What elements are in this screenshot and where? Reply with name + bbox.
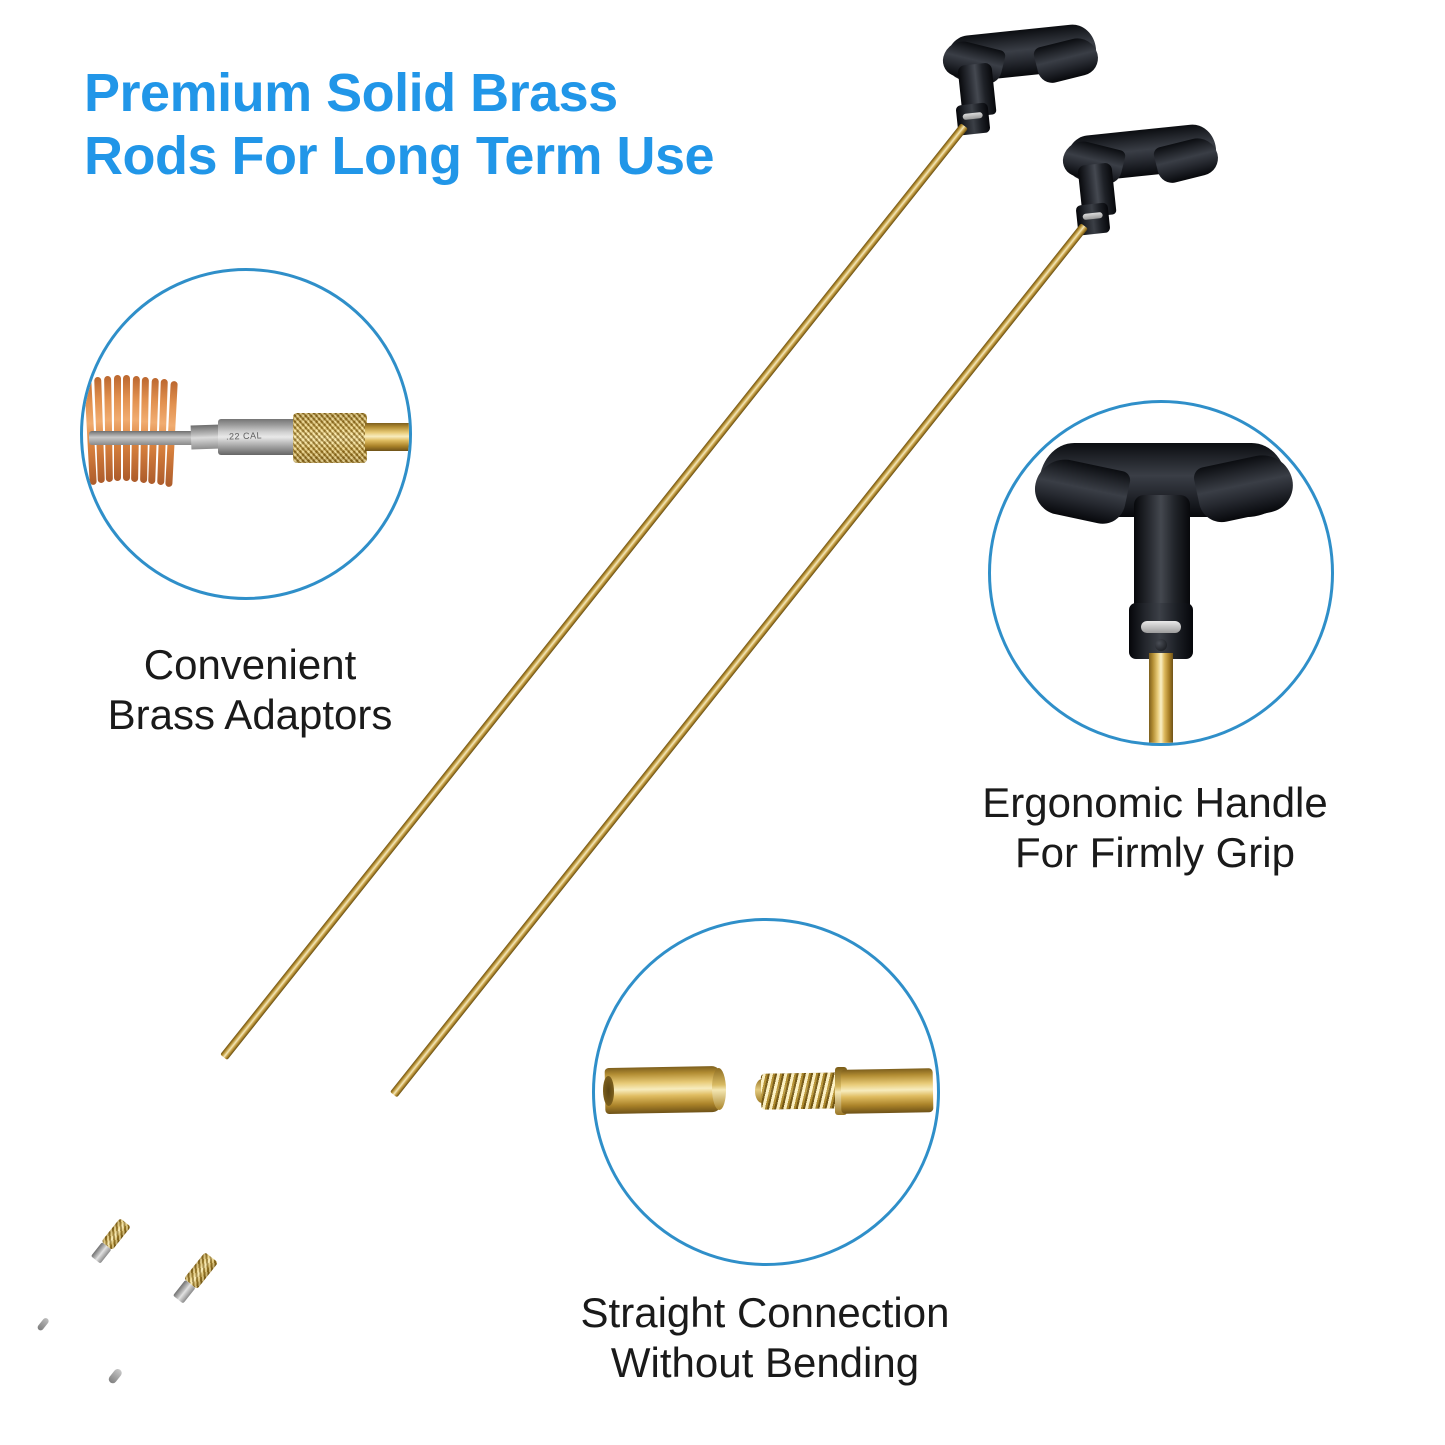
collar-screw (1155, 639, 1167, 651)
callout-straight-connection[interactable] (592, 918, 940, 1266)
caption-line-2: For Firmly Grip (955, 828, 1355, 878)
rod-male-thread (761, 1072, 846, 1109)
bore-brush-thick (93, 1281, 201, 1398)
rod-male-body (841, 1068, 934, 1114)
caption-ergonomic-handle: Ergonomic Handle For Firmly Grip (955, 778, 1355, 879)
brass-rod-segment (1149, 653, 1173, 746)
handle-swivel-collar (1129, 603, 1193, 659)
bore-brush-thin (34, 1251, 106, 1333)
collar-pin (1082, 212, 1103, 220)
brush-steel-sleeve: .22 CAL (218, 419, 296, 455)
collar-pin (962, 112, 983, 120)
collar-pin (1141, 621, 1181, 633)
socket-bore (603, 1076, 615, 1106)
page-title: Premium Solid Brass Rods For Long Term U… (84, 62, 804, 187)
headline-line-2: Rods For Long Term Use (84, 125, 804, 188)
caption-line-2: Brass Adaptors (10, 690, 490, 740)
callout-handle-image (991, 403, 1331, 743)
caption-line-1: Straight Connection (540, 1288, 990, 1338)
brush-twisted-core (89, 431, 197, 445)
callout-adaptors-image: .22 CAL (83, 271, 409, 597)
callout-brass-adaptors[interactable]: .22 CAL (80, 268, 412, 600)
callout-connection-image (595, 921, 937, 1263)
headline-line-1: Premium Solid Brass (84, 62, 804, 125)
caption-brass-adaptors: Convenient Brass Adaptors (10, 640, 490, 741)
caption-straight-connection: Straight Connection Without Bending (540, 1288, 990, 1389)
brush-ferrule (191, 424, 222, 449)
brass-rod-segment (365, 423, 412, 451)
sleeve-marking-text: .22 CAL (226, 430, 262, 441)
callout-ergonomic-handle[interactable] (988, 400, 1334, 746)
caption-line-2: Without Bending (540, 1338, 990, 1388)
caption-line-1: Convenient (10, 640, 490, 690)
handle-stem (1134, 495, 1190, 617)
rod-female-socket-end (605, 1066, 722, 1114)
caption-line-1: Ergonomic Handle (955, 778, 1355, 828)
socket-end-cap (712, 1068, 727, 1110)
brass-adaptor-knurled (293, 413, 367, 463)
infographic-canvas: Premium Solid Brass Rods For Long Term U… (0, 0, 1445, 1445)
